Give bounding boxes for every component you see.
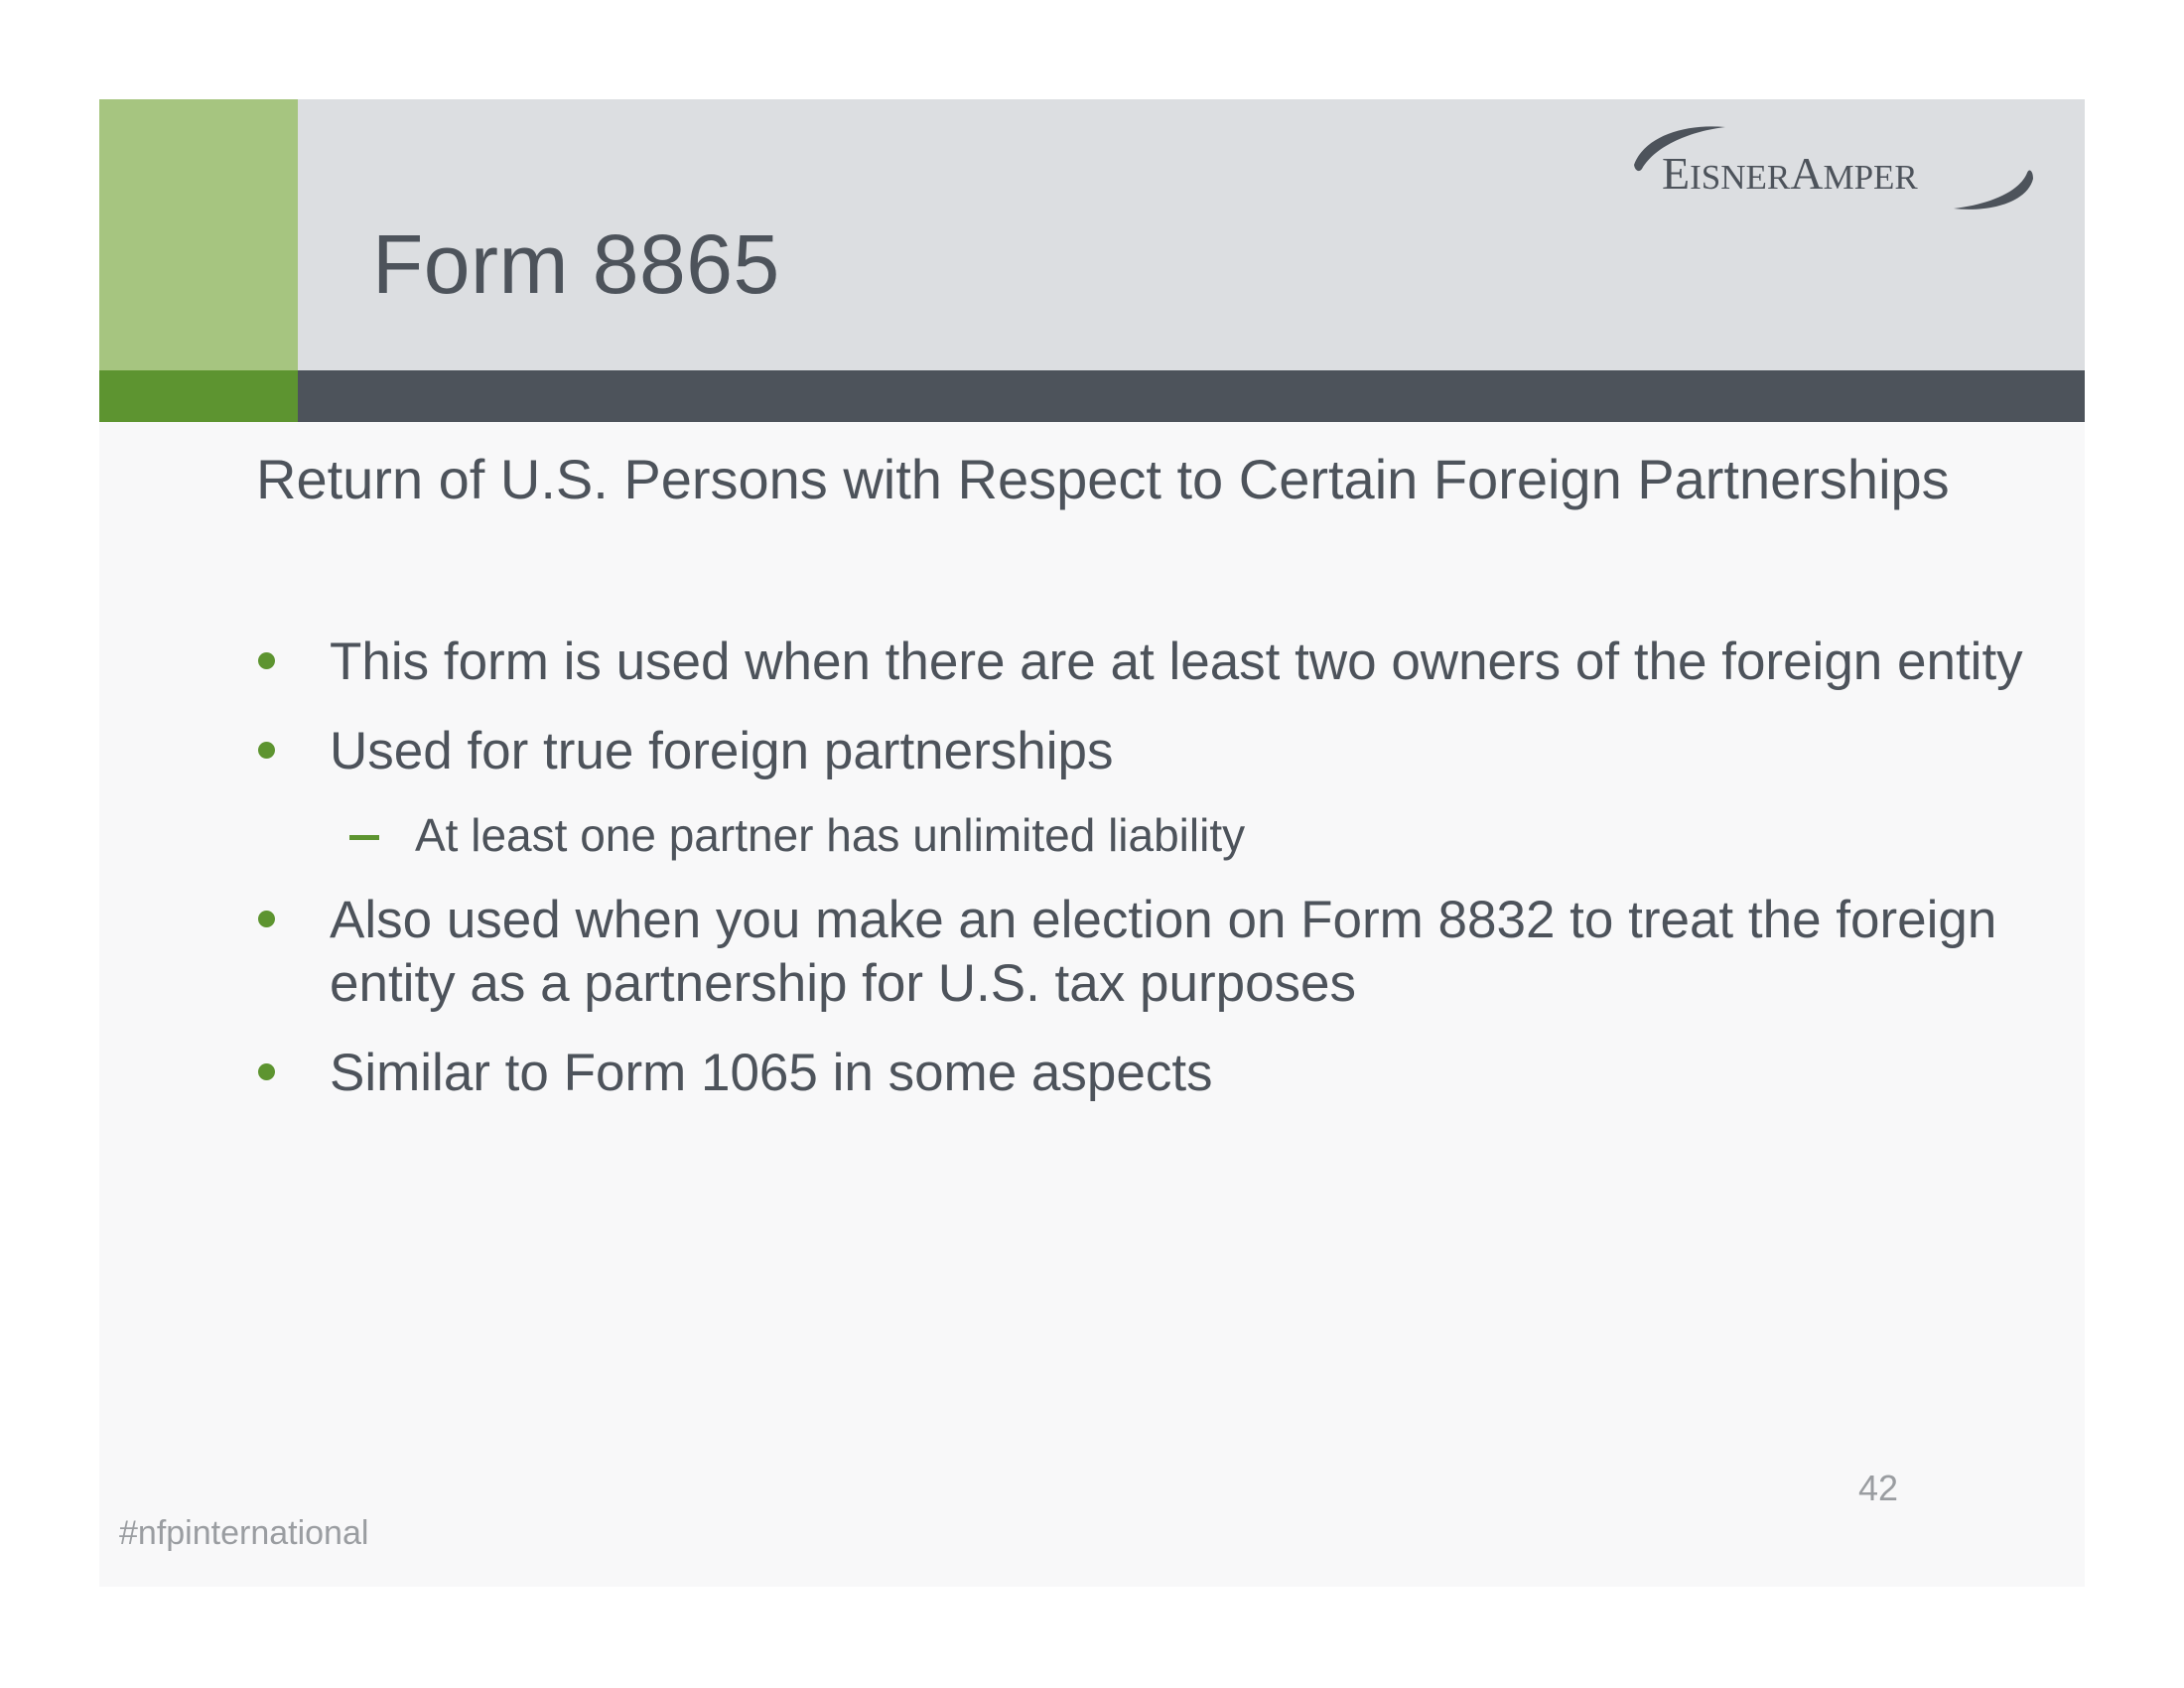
list-item: Similar to Form 1065 in some aspects <box>99 1042 2037 1105</box>
list-item: This form is used when there are at leas… <box>99 631 2037 694</box>
bullet-dot-icon <box>258 742 275 759</box>
list-item-label: Used for true foreign partnerships <box>330 722 1114 780</box>
header-divider-bar <box>99 370 2085 422</box>
list-item-label: This form is used when there are at leas… <box>330 633 2023 691</box>
list-item: Also used when you make an election on F… <box>99 889 2037 1015</box>
list-item-label: Also used when you make an election on F… <box>330 891 1996 1013</box>
bullet-dot-icon <box>258 1063 275 1080</box>
bullet-dash-icon <box>349 835 379 840</box>
list-item-label: At least one partner has unlimited liabi… <box>415 809 1245 861</box>
footer-hashtag: #nfpinternational <box>119 1514 368 1553</box>
list-item-label: Similar to Form 1065 in some aspects <box>330 1044 1213 1102</box>
subtitle-text: Return of U.S. Persons with Respect to C… <box>256 447 1964 512</box>
divider-accent-block <box>99 370 298 422</box>
slide: Form 8865 EISNERAMPER Return of U.S. Per… <box>99 99 2085 1587</box>
list-item: Used for true foreign partnerships <box>99 720 2037 783</box>
slide-header: Form 8865 EISNERAMPER <box>99 99 2085 370</box>
header-accent-block <box>99 99 298 370</box>
list-item-sub: At least one partner has unlimited liabi… <box>99 808 2033 863</box>
page-title: Form 8865 <box>372 216 780 313</box>
bullet-list: This form is used when there are at leas… <box>99 631 2085 1130</box>
svg-text:EISNERAMPER: EISNERAMPER <box>1662 148 1918 199</box>
bullet-dot-icon <box>258 911 275 927</box>
page-number: 42 <box>1858 1468 1898 1509</box>
eisneramper-logo: EISNERAMPER <box>1626 121 2043 212</box>
bullet-dot-icon <box>258 652 275 669</box>
